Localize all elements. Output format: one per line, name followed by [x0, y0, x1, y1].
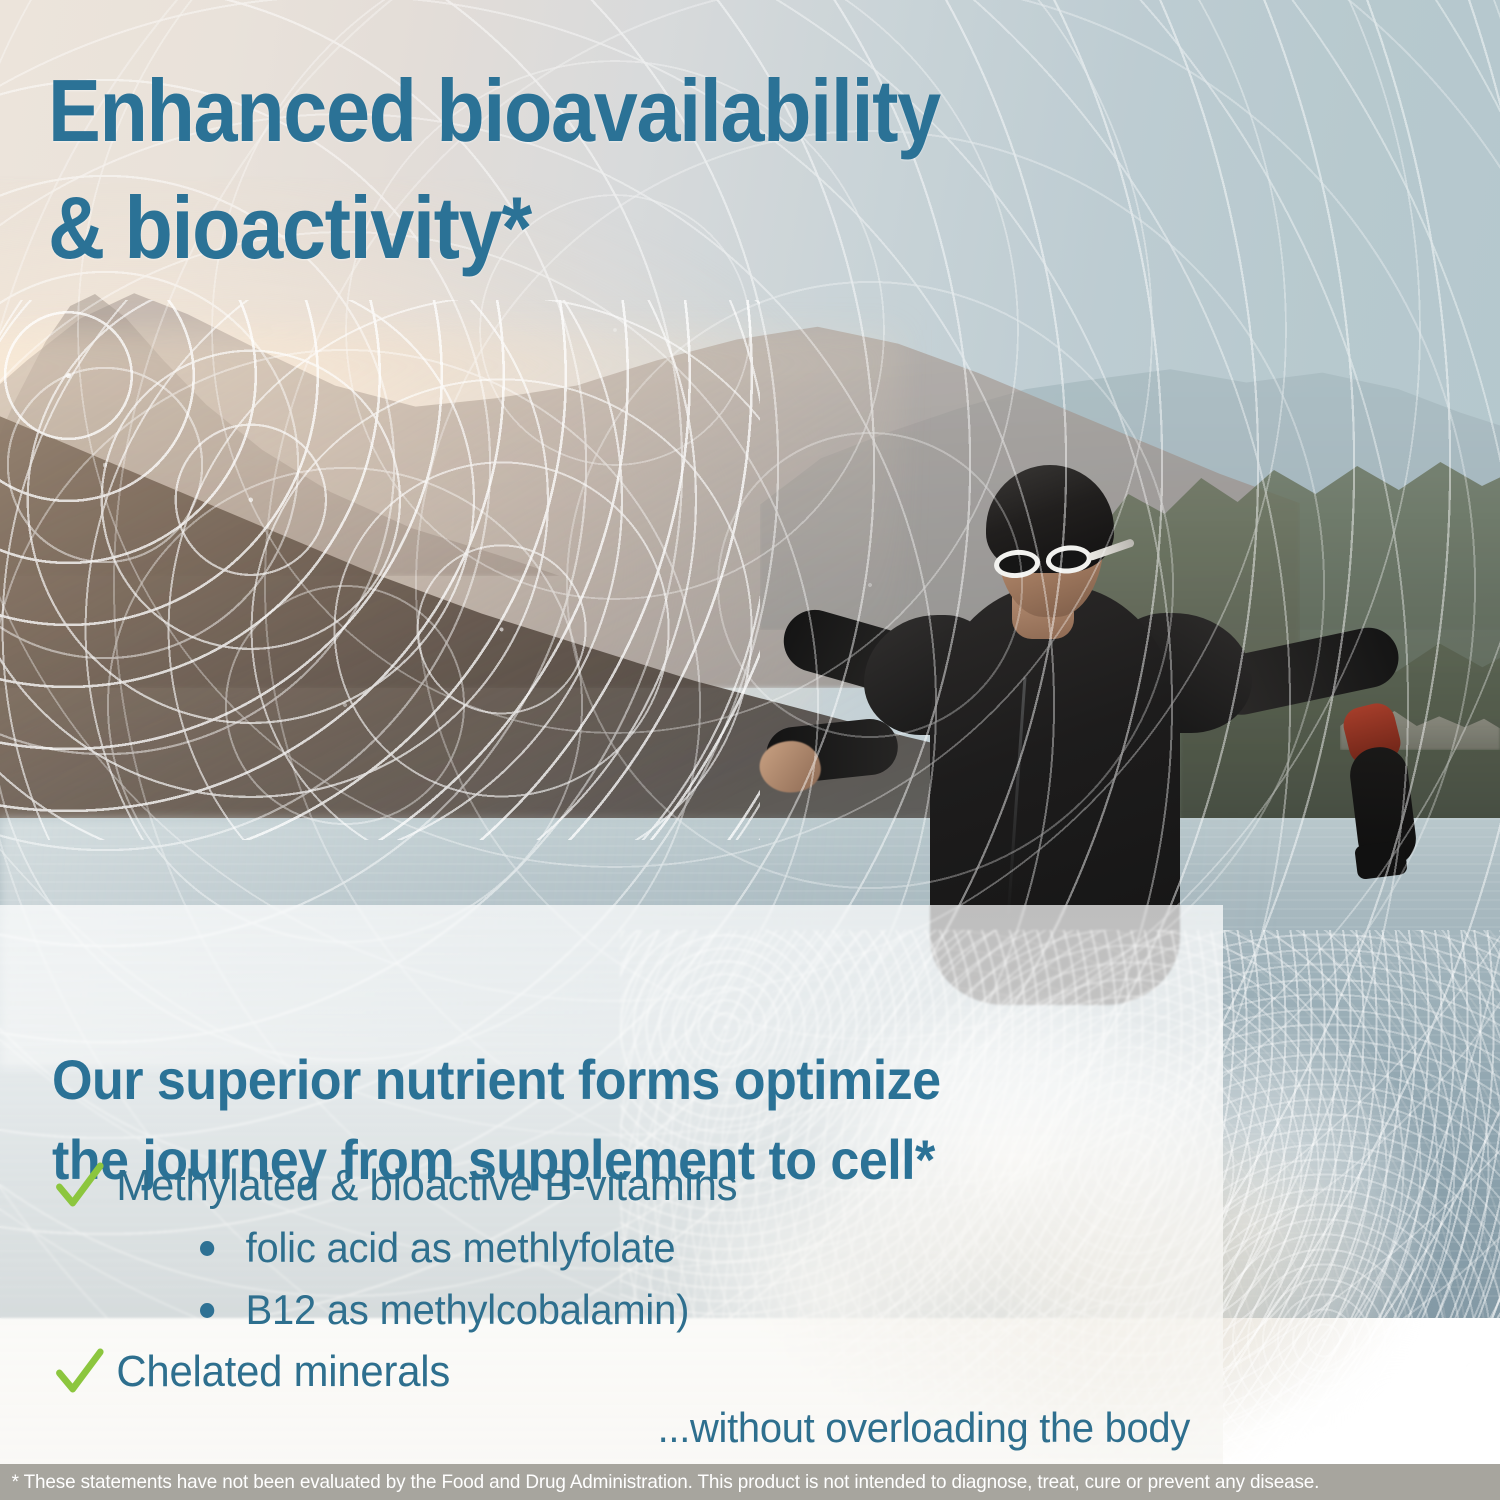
page-title: Enhanced bioavailability & bioactivity* [48, 52, 1128, 286]
list-item: B12 as methylcobalamin) [48, 1279, 1141, 1341]
goggle-lens-right [1045, 543, 1093, 575]
swimmer-watch [1354, 840, 1408, 880]
promo-image: Enhanced bioavailability & bioactivity* … [0, 0, 1500, 1500]
list-item: Chelated minerals [48, 1341, 1141, 1403]
list-item-label: folic acid as methlyfolate [246, 1224, 676, 1272]
list-item: folic acid as methlyfolate [48, 1217, 1141, 1279]
disclaimer-text: * These statements have not been evaluat… [0, 1471, 1319, 1494]
list-item-label: B12 as methylcobalamin) [246, 1286, 690, 1334]
list-item: Methylated & bioactive B-vitamins [48, 1155, 1141, 1217]
goggle-lens-left [993, 548, 1041, 580]
disclaimer-bar: * These statements have not been evaluat… [0, 1464, 1500, 1500]
check-icon [54, 1159, 105, 1213]
bullet-dot-icon [200, 1241, 214, 1256]
benefits-list: Methylated & bioactive B-vitamins folic … [48, 1155, 1198, 1403]
check-icon [54, 1345, 105, 1399]
list-item-label: Chelated minerals [116, 1347, 450, 1397]
list-item-label: Methylated & bioactive B-vitamins [116, 1161, 737, 1211]
bullet-dot-icon [200, 1303, 214, 1318]
tagline: ...without overloading the body [60, 1404, 1191, 1452]
